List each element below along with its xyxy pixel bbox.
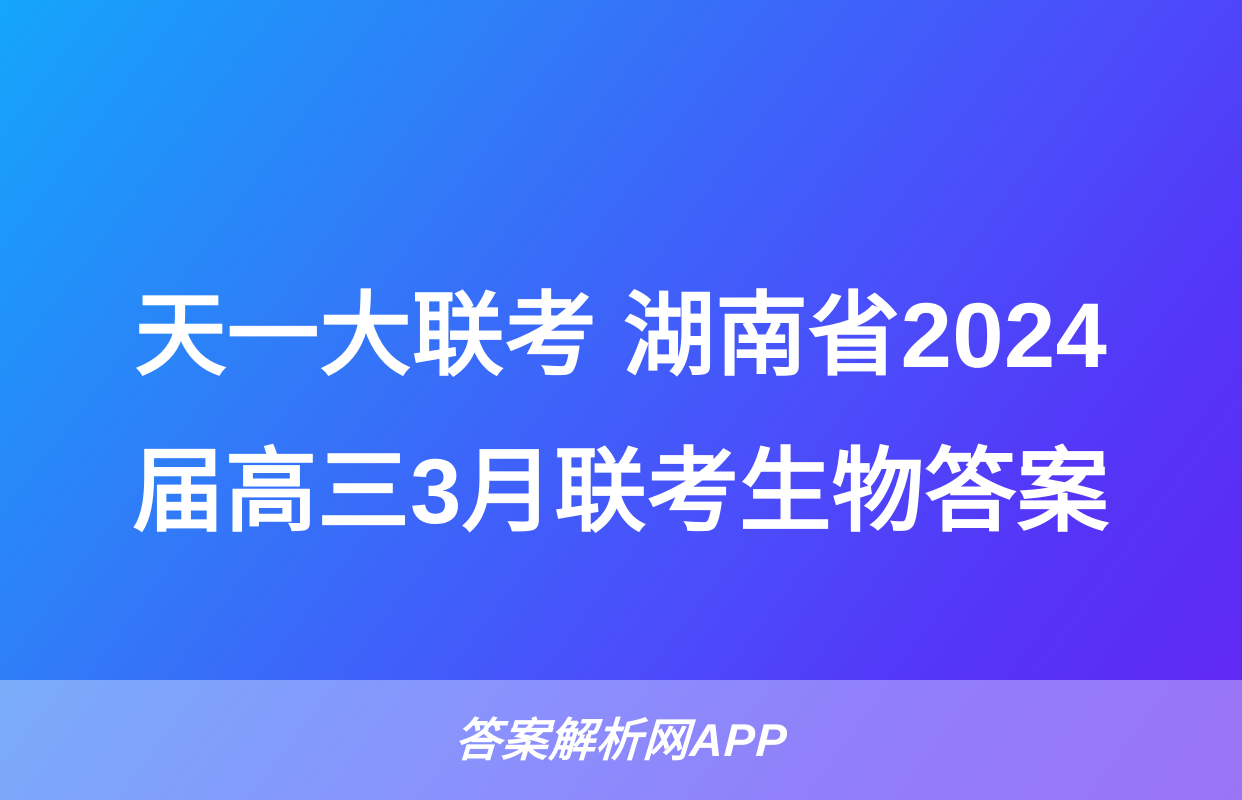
poster-canvas: 天一大联考湖南省2024 届高三3月联考生物答案 答案解析网APP: [0, 0, 1242, 800]
footer-brand-label: 答案解析网APP: [453, 714, 788, 766]
footer-brand-band: 答案解析网APP: [0, 680, 1242, 800]
title-line-1-segment-exam-name: 天一大联考: [135, 285, 598, 387]
page-title: 天一大联考湖南省2024 届高三3月联考生物答案: [0, 262, 1242, 566]
title-line-2: 届高三3月联考生物答案: [70, 418, 1172, 566]
title-line-1: 天一大联考湖南省2024: [70, 262, 1172, 410]
title-line-1-segment-province-year: 湖南省2024: [623, 285, 1107, 387]
